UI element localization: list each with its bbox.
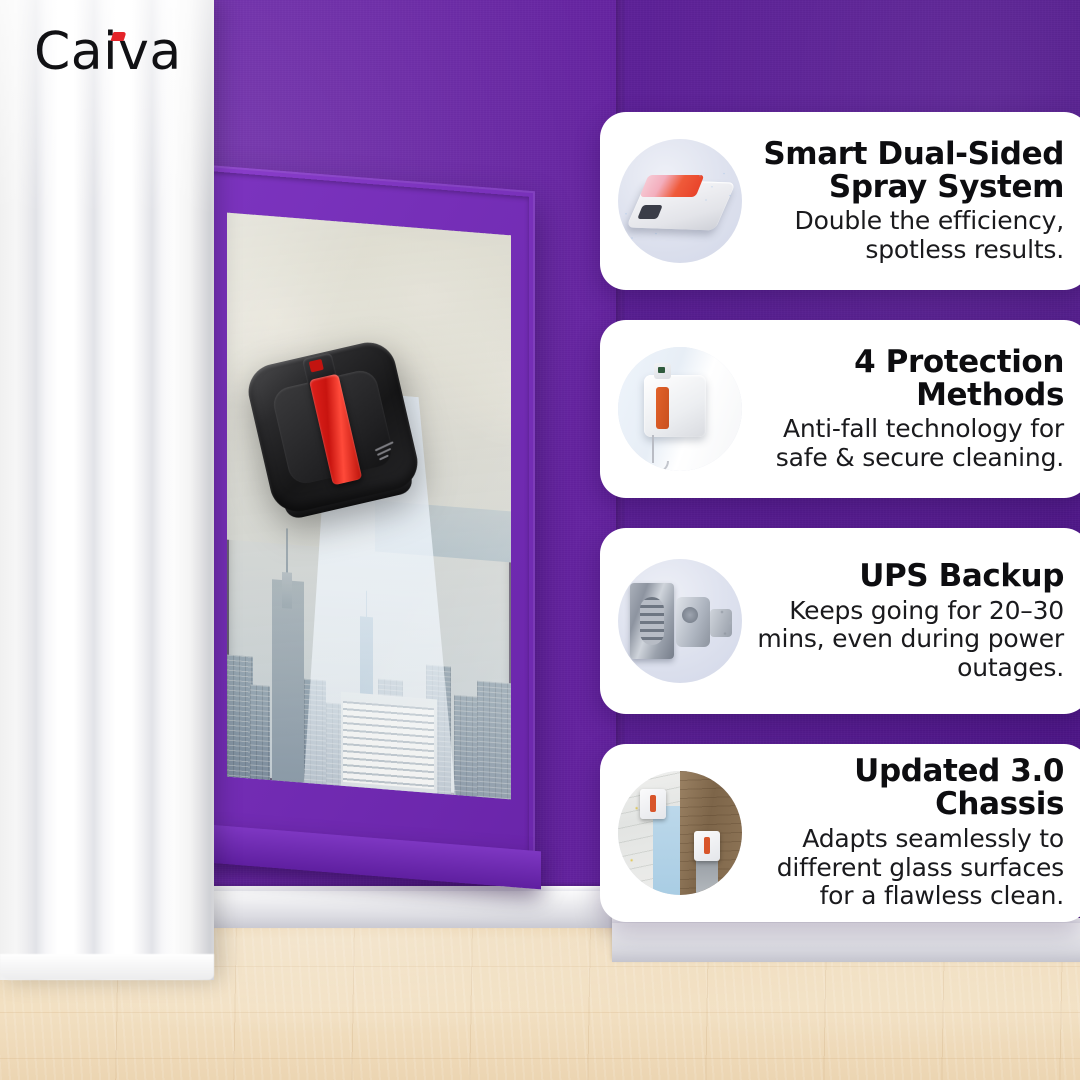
window-glass [227, 213, 511, 800]
feature-card-updated-chassis[interactable]: Updated 3.0 Chassis Adapts seamlessly to… [600, 744, 1080, 922]
feature-title: Smart Dual-Sided Spray System [750, 138, 1064, 204]
brand-logo: Caiva [34, 22, 182, 82]
brand-name: Caiva [34, 22, 182, 82]
feature-card-text: Updated 3.0 Chassis Adapts seamlessly to… [750, 755, 1074, 910]
window [205, 178, 535, 850]
curtain-hem [0, 954, 214, 980]
feature-card-protection-methods[interactable]: 4 Protection Methods Anti-fall technolog… [600, 320, 1080, 498]
feature-card-ups-backup[interactable]: UPS Backup Keeps going for 20–30 mins, e… [600, 528, 1080, 714]
dual-spray-robot-icon [618, 139, 742, 263]
glass-reflection [227, 213, 511, 800]
feature-card-list: Smart Dual-Sided Spray System Double the… [600, 0, 1080, 1080]
feature-title: 4 Protection Methods [750, 346, 1064, 412]
anti-fall-safety-icon [618, 347, 742, 471]
feature-card-text: UPS Backup Keeps going for 20–30 mins, e… [750, 560, 1074, 682]
feature-description: Keeps going for 20–30 mins, even during … [750, 597, 1064, 683]
feature-card-spray-system[interactable]: Smart Dual-Sided Spray System Double the… [600, 112, 1080, 290]
feature-title: UPS Backup [750, 560, 1064, 593]
chassis-glass-surfaces-icon [618, 771, 742, 895]
feature-card-text: 4 Protection Methods Anti-fall technolog… [750, 346, 1074, 473]
feature-card-text: Smart Dual-Sided Spray System Double the… [750, 138, 1074, 265]
feature-description: Adapts seamlessly to different glass sur… [750, 825, 1064, 911]
feature-title: Updated 3.0 Chassis [750, 755, 1064, 821]
poster-stage: Caiva Smart Dual-Sided Spray System Doub… [0, 0, 1080, 1080]
curtain [0, 0, 214, 980]
feature-description: Double the efficiency, spotless results. [750, 207, 1064, 264]
ups-internal-motor-icon [618, 559, 742, 683]
feature-description: Anti-fall technology for safe & secure c… [750, 415, 1064, 472]
